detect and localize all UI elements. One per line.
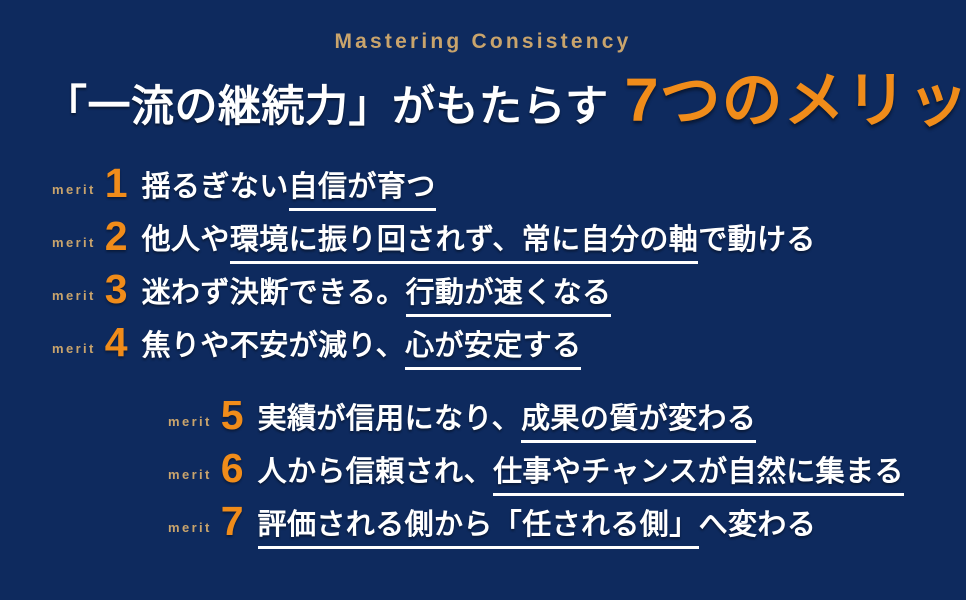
merit-text-underlined: 仕事やチャンスが自然に集まる <box>493 456 904 496</box>
merit-tag-label: merit <box>52 182 96 206</box>
merit-text-underlined: 環境に振り回されず、常に自分の軸 <box>230 224 698 264</box>
merit-list: merit1揺るぎない自信が育つmerit2他人や環境に振り回されず、常に自分の… <box>0 153 966 544</box>
merit-text-underlined: 成果の質が変わる <box>521 403 756 443</box>
merit-text: 評価される側から「任される側」へ変わる <box>244 511 817 544</box>
merit-number: 5 <box>212 395 244 438</box>
merit-text: 人から信頼され、仕事やチャンスが自然に集まる <box>244 458 904 491</box>
merit-text-underlined: 自信が育つ <box>289 171 436 211</box>
merit-text-lead: 焦りや不安が減り、 <box>142 330 405 362</box>
merit-number: 2 <box>96 216 128 259</box>
merit-row[interactable]: merit3迷わず決断できる。行動が速くなる <box>52 259 966 312</box>
merit-text-lead: 迷わず決断できる。 <box>142 277 406 309</box>
eyebrow-text: Mastering Consistency <box>0 30 966 54</box>
merit-row[interactable]: merit2他人や環境に振り回されず、常に自分の軸で動ける <box>52 206 966 259</box>
merit-text-lead: 実績が信用になり、 <box>258 403 521 435</box>
merit-text-trail: で動ける <box>698 224 816 256</box>
merit-number: 1 <box>96 163 128 206</box>
slide-canvas: Mastering Consistency 「一流の継続力」がもたらす 7つのメ… <box>0 0 966 600</box>
merit-text-lead: 人から信頼され、 <box>258 456 494 488</box>
merit-number: 3 <box>96 269 128 312</box>
merit-tag-label: merit <box>52 235 96 259</box>
merit-tag-label: merit <box>168 467 212 491</box>
merit-text: 他人や環境に振り回されず、常に自分の軸で動ける <box>128 226 816 259</box>
merit-row[interactable]: merit1揺るぎない自信が育つ <box>52 153 966 206</box>
merit-text-underlined: 行動が速くなる <box>406 277 612 317</box>
merit-text-underlined: 心が安定する <box>405 330 581 370</box>
merit-number: 4 <box>96 322 128 365</box>
merit-row[interactable]: merit6人から信頼され、仕事やチャンスが自然に集まる <box>168 438 966 491</box>
merit-row[interactable]: merit4焦りや不安が減り、心が安定する <box>52 312 966 365</box>
merit-text: 迷わず決断できる。行動が速くなる <box>128 279 612 312</box>
merit-text-trail: へ変わる <box>699 509 817 541</box>
merit-number: 6 <box>212 448 244 491</box>
merit-group-secondary: merit5実績が信用になり、成果の質が変わるmerit6人から信頼され、仕事や… <box>0 385 966 544</box>
merit-tag-label: merit <box>52 288 96 312</box>
merit-text: 揺るぎない自信が育つ <box>128 173 436 206</box>
merit-text: 実績が信用になり、成果の質が変わる <box>244 405 757 438</box>
page-title: 「一流の継続力」がもたらす 7つのメリット <box>44 68 944 132</box>
merit-text-underlined: 評価される側から「任される側」 <box>258 509 699 549</box>
merit-text-lead: 他人や <box>142 224 230 256</box>
merit-group-primary: merit1揺るぎない自信が育つmerit2他人や環境に振り回されず、常に自分の… <box>0 153 966 365</box>
merit-tag-label: merit <box>168 414 212 438</box>
merit-row[interactable]: merit7評価される側から「任される側」へ変わる <box>168 491 966 544</box>
page-title-primary: 「一流の継続力」がもたらす <box>44 83 609 132</box>
page-title-accent: 7つのメリット <box>625 68 966 132</box>
merit-tag-label: merit <box>168 520 212 544</box>
merit-text-lead: 揺るぎない <box>142 171 289 203</box>
merit-tag-label: merit <box>52 341 96 365</box>
merit-row[interactable]: merit5実績が信用になり、成果の質が変わる <box>168 385 966 438</box>
merit-number: 7 <box>212 501 244 544</box>
merit-text: 焦りや不安が減り、心が安定する <box>128 332 582 365</box>
